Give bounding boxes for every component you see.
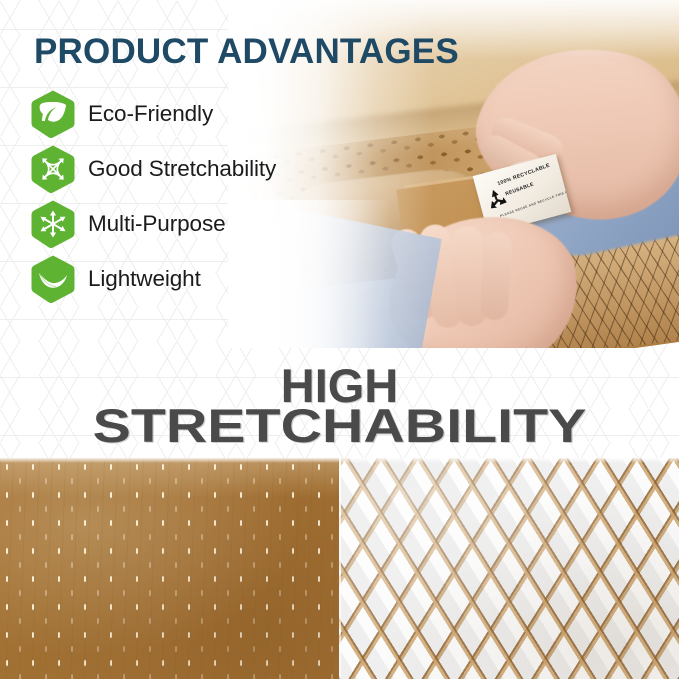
banner-section: HIGH STRETCHABILITY: [0, 348, 679, 458]
feature-item-lightweight: Lightweight: [30, 251, 276, 306]
unstretched-honeycomb-texture: [0, 458, 339, 679]
multi-arrows-icon: [30, 199, 76, 249]
page-title: PRODUCT ADVANTAGES: [34, 32, 459, 72]
banner-line-2: STRETCHABILITY: [0, 398, 679, 453]
texture-comparison-section: [0, 458, 679, 679]
texture-panel-divider: [339, 458, 341, 679]
feature-item-good-stretchability: Good Stretchability: [30, 141, 276, 196]
leaf-icon: [30, 89, 76, 139]
feature-label: Lightweight: [88, 266, 201, 292]
feature-label: Eco-Friendly: [88, 101, 213, 127]
card-line-2: REUSABLE: [505, 182, 535, 198]
infographic-page: 100% RECYCLABLE REUSABLE PLEASE REUSE AN…: [0, 0, 679, 679]
feature-label: Good Stretchability: [88, 156, 276, 182]
mesh-shading: [339, 458, 679, 679]
stretch-arrows-icon: [30, 144, 76, 194]
texture-top-edge-highlight: [0, 458, 679, 463]
features-list: Eco-Friendly: [30, 86, 276, 306]
feather-icon: [30, 254, 76, 304]
feature-item-multi-purpose: Multi-Purpose: [30, 196, 276, 251]
lower-hand-finger-4: [480, 231, 513, 320]
stretched-honeycomb-mesh-texture: [339, 458, 679, 679]
recycle-icon: [481, 183, 512, 214]
feature-label: Multi-Purpose: [88, 211, 226, 237]
top-section: 100% RECYCLABLE REUSABLE PLEASE REUSE AN…: [0, 0, 679, 348]
feature-item-eco-friendly: Eco-Friendly: [30, 86, 276, 141]
